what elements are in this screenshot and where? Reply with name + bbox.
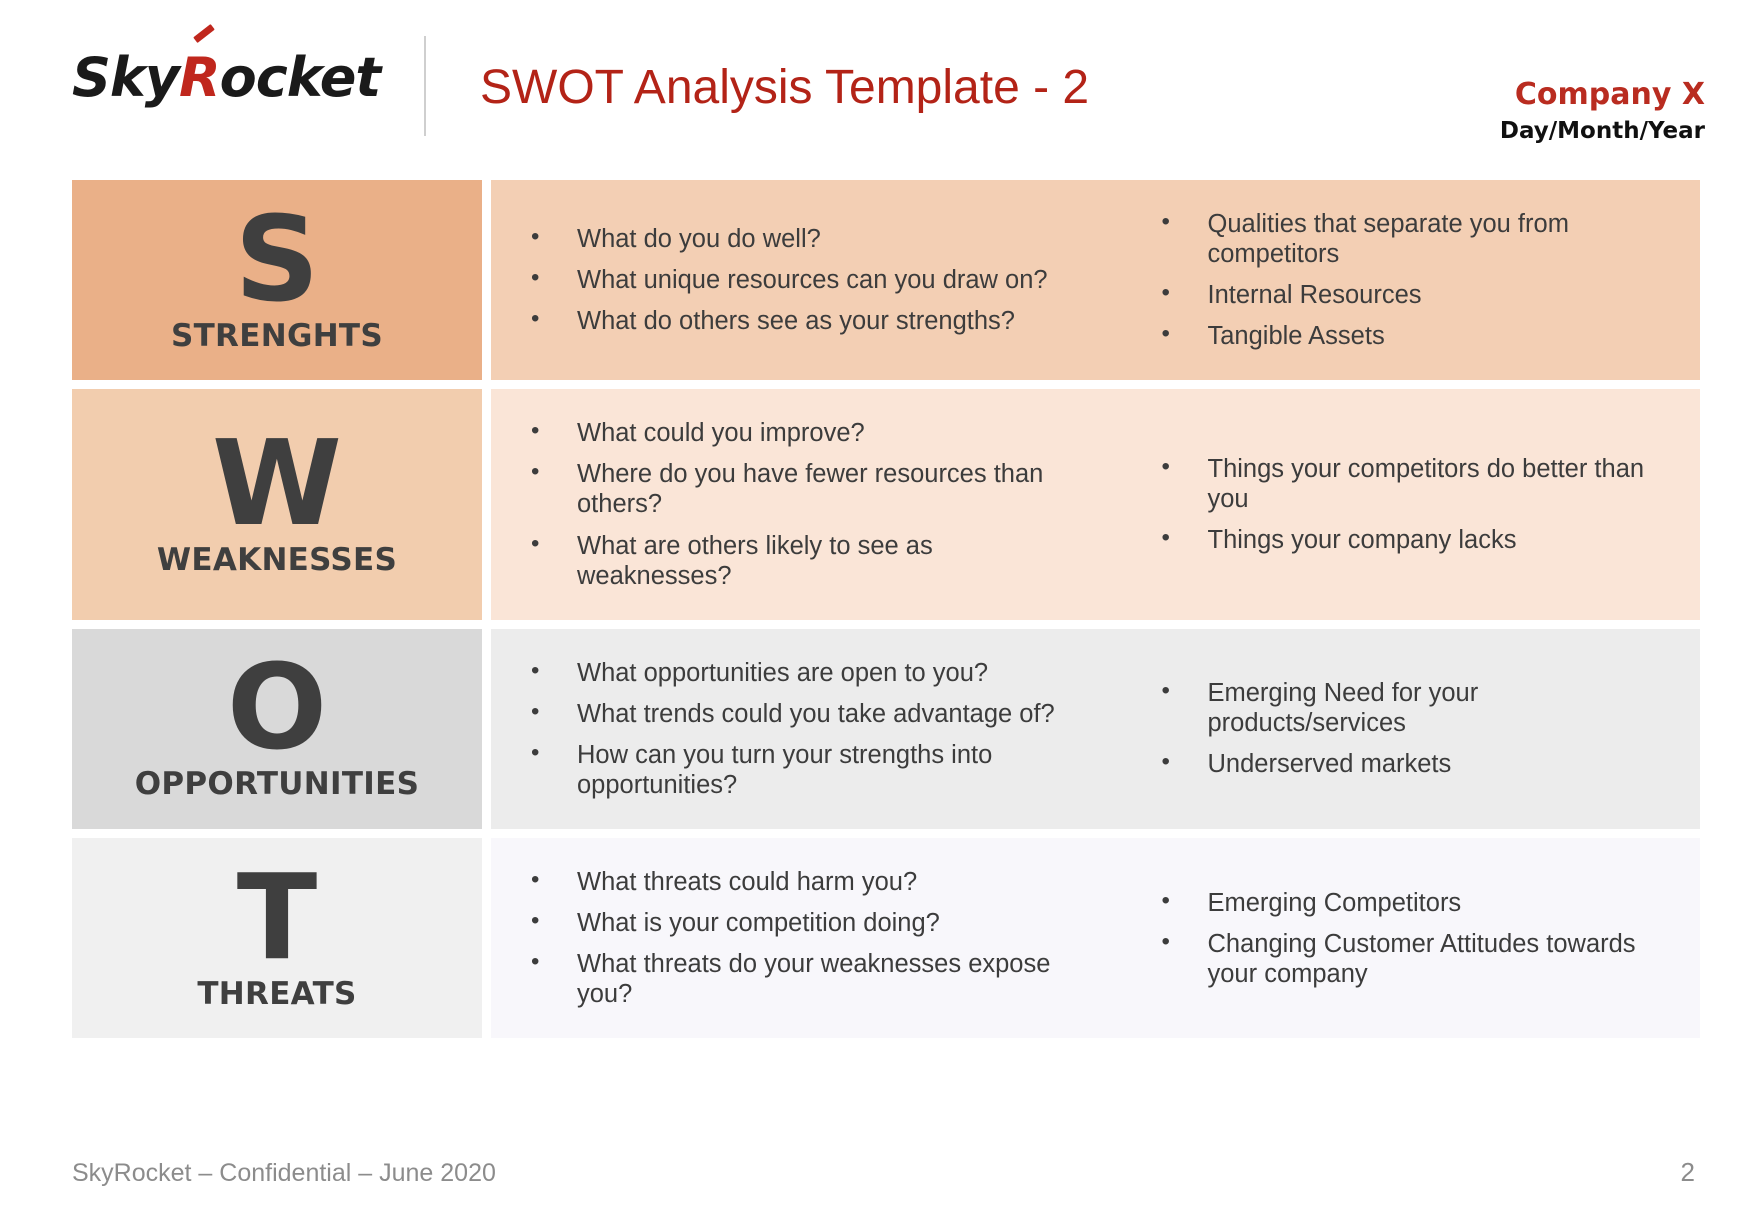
swot-letter-s: S xyxy=(235,203,320,316)
list-item: What do others see as your strengths? xyxy=(525,306,1070,336)
swot-label-text-opportunities: OPPORTUNITIES xyxy=(135,766,420,802)
page-number: 2 xyxy=(1681,1157,1695,1188)
swot-col-right-opportunities: Emerging Need for your products/services… xyxy=(1096,629,1701,829)
list-item: What unique resources can you draw on? xyxy=(525,265,1070,295)
swot-label-strengths: S STRENGHTS xyxy=(72,180,482,380)
company-block: Company X Day/Month/Year xyxy=(1500,78,1705,145)
list-item: Underserved markets xyxy=(1156,749,1675,779)
swot-col-right-strengths: Qualities that separate you from competi… xyxy=(1096,180,1701,380)
list-item: What are others likely to see as weaknes… xyxy=(525,531,1070,591)
slide: SkyRocket SWOT Analysis Template - 2 Com… xyxy=(0,0,1750,1214)
company-name: Company X xyxy=(1500,78,1705,113)
swot-content-weaknesses: What could you improve? Where do you hav… xyxy=(491,389,1700,619)
swot-content-opportunities: What opportunities are open to you? What… xyxy=(491,629,1700,829)
list-item: What is your competition doing? xyxy=(525,908,1070,938)
footer-confidential-note: SkyRocket – Confidential – June 2020 xyxy=(72,1159,496,1188)
bullet-list: Qualities that separate you from competi… xyxy=(1156,198,1675,362)
swot-col-left-threats: What threats could harm you? What is you… xyxy=(491,838,1096,1038)
swot-col-left-weaknesses: What could you improve? Where do you hav… xyxy=(491,389,1096,619)
list-item: What do you do well? xyxy=(525,224,1070,254)
logo-accent-icon xyxy=(193,24,215,43)
list-item: Things your competitors do better than y… xyxy=(1156,454,1675,514)
swot-label-threats: T THREATS xyxy=(72,838,482,1038)
list-item: Where do you have fewer resources than o… xyxy=(525,459,1070,519)
list-item: Internal Resources xyxy=(1156,280,1675,310)
swot-row-threats: T THREATS What threats could harm you? W… xyxy=(72,838,1700,1038)
list-item: Emerging Need for your products/services xyxy=(1156,678,1675,738)
bullet-list: What opportunities are open to you? What… xyxy=(525,647,1070,811)
list-item: Emerging Competitors xyxy=(1156,888,1675,918)
page-title: SWOT Analysis Template - 2 xyxy=(480,60,1089,115)
list-item: What threats do your weaknesses expose y… xyxy=(525,949,1070,1009)
bullet-list: Things your competitors do better than y… xyxy=(1156,443,1675,566)
header-divider xyxy=(424,36,426,136)
swot-col-left-opportunities: What opportunities are open to you? What… xyxy=(491,629,1096,829)
swot-letter-o: O xyxy=(227,651,327,764)
swot-col-right-threats: Emerging Competitors Changing Customer A… xyxy=(1096,838,1701,1038)
swot-label-text-weaknesses: WEAKNESSES xyxy=(157,542,397,578)
list-item: Things your company lacks xyxy=(1156,525,1675,555)
swot-label-opportunities: O OPPORTUNITIES xyxy=(72,629,482,829)
swot-content-threats: What threats could harm you? What is you… xyxy=(491,838,1700,1038)
logo-text-r: R xyxy=(179,46,220,109)
list-item: Tangible Assets xyxy=(1156,321,1675,351)
swot-col-right-weaknesses: Things your competitors do better than y… xyxy=(1096,389,1701,619)
swot-row-weaknesses: W WEAKNESSES What could you improve? Whe… xyxy=(72,389,1700,619)
list-item: What threats could harm you? xyxy=(525,867,1070,897)
swot-grid: S STRENGHTS What do you do well? What un… xyxy=(72,180,1700,1047)
swot-content-strengths: What do you do well? What unique resourc… xyxy=(491,180,1700,380)
bullet-list: What threats could harm you? What is you… xyxy=(525,856,1070,1020)
list-item: What could you improve? xyxy=(525,418,1070,448)
list-item: What trends could you take advantage of? xyxy=(525,699,1070,729)
logo-letter-r: R xyxy=(179,46,220,109)
swot-letter-w: W xyxy=(212,427,342,540)
list-item: Changing Customer Attitudes towards your… xyxy=(1156,929,1675,989)
bullet-list: Emerging Need for your products/services… xyxy=(1156,667,1675,790)
swot-row-strengths: S STRENGHTS What do you do well? What un… xyxy=(72,180,1700,380)
swot-label-weaknesses: W WEAKNESSES xyxy=(72,389,482,619)
bullet-list: What do you do well? What unique resourc… xyxy=(525,213,1070,347)
logo-text-ocket: ocket xyxy=(220,46,381,109)
bullet-list: What could you improve? Where do you hav… xyxy=(525,407,1070,601)
swot-label-text-strengths: STRENGHTS xyxy=(171,318,383,354)
list-item: Qualities that separate you from competi… xyxy=(1156,209,1675,269)
list-item: How can you turn your strengths into opp… xyxy=(525,740,1070,800)
logo-text-sky: Sky xyxy=(72,46,179,109)
bullet-list: Emerging Competitors Changing Customer A… xyxy=(1156,877,1675,1000)
slide-header: SkyRocket SWOT Analysis Template - 2 Com… xyxy=(0,0,1750,160)
skyrocket-logo: SkyRocket xyxy=(72,46,380,109)
company-date: Day/Month/Year xyxy=(1500,117,1705,146)
swot-col-left-strengths: What do you do well? What unique resourc… xyxy=(491,180,1096,380)
list-item: What opportunities are open to you? xyxy=(525,658,1070,688)
swot-row-opportunities: O OPPORTUNITIES What opportunities are o… xyxy=(72,629,1700,829)
swot-label-text-threats: THREATS xyxy=(197,976,356,1012)
swot-letter-t: T xyxy=(237,861,318,974)
